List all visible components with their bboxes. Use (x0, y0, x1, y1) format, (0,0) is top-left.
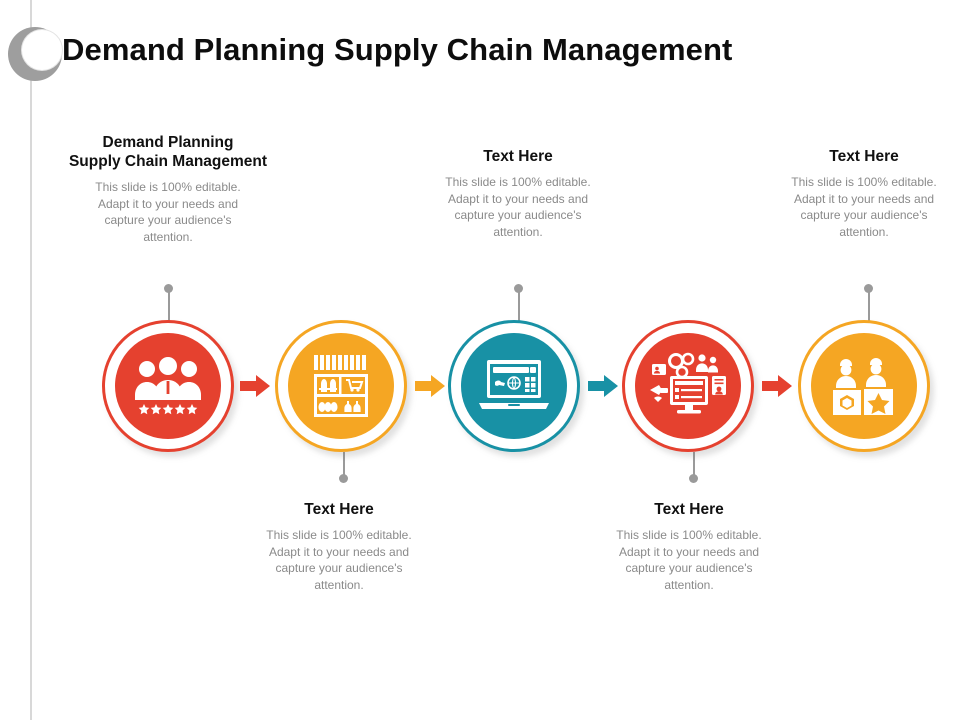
step-3-node[interactable] (448, 320, 580, 452)
arrow-right-icon-3 (588, 373, 618, 399)
step-3-title: Text Here (440, 147, 596, 166)
step-5-node[interactable] (798, 320, 930, 452)
monitor-gears-workflow-icon (635, 333, 741, 439)
arrow-right-icon-4 (762, 373, 792, 399)
step-1-text-block: Demand Planning Supply Chain Management … (62, 133, 274, 245)
slide-header: Demand Planning Supply Chain Management (0, 14, 960, 84)
step-1-node[interactable] (102, 320, 234, 452)
arrow-right-icon-2 (415, 373, 445, 399)
step-4-node[interactable] (622, 320, 754, 452)
step-4-connector-dot (689, 474, 698, 483)
step-3-body: This slide is 100% editable. Adapt it to… (440, 174, 596, 240)
step-4-body: This slide is 100% editable. Adapt it to… (611, 527, 767, 593)
step-3-text-block: Text Here This slide is 100% editable. A… (440, 147, 596, 240)
warehouse-workers-boxes-icon (811, 333, 917, 439)
step-2-text-block: Text Here This slide is 100% editable. A… (261, 500, 417, 593)
retail-shelf-icon (288, 333, 394, 439)
step-2-connector-dot (339, 474, 348, 483)
step-2-node[interactable] (275, 320, 407, 452)
arrow-right-icon-1 (240, 373, 270, 399)
step-1-title: Demand Planning Supply Chain Management (62, 133, 274, 171)
left-vertical-rule (30, 0, 32, 720)
step-1-body: This slide is 100% editable. Adapt it to… (62, 179, 274, 245)
slide-canvas: Demand Planning Supply Chain Management … (0, 0, 960, 720)
step-2-body: This slide is 100% editable. Adapt it to… (261, 527, 417, 593)
crescent-ring-logo-icon (8, 27, 62, 81)
step-4-title: Text Here (611, 500, 767, 519)
three-people-five-stars-icon (115, 333, 221, 439)
laptop-ecommerce-icon (461, 333, 567, 439)
page-title: Demand Planning Supply Chain Management (62, 32, 732, 68)
step-2-title: Text Here (261, 500, 417, 519)
step-4-text-block: Text Here This slide is 100% editable. A… (611, 500, 767, 593)
step-5-text-block: Text Here This slide is 100% editable. A… (786, 147, 942, 240)
step-5-title: Text Here (786, 147, 942, 166)
step-5-body: This slide is 100% editable. Adapt it to… (786, 174, 942, 240)
